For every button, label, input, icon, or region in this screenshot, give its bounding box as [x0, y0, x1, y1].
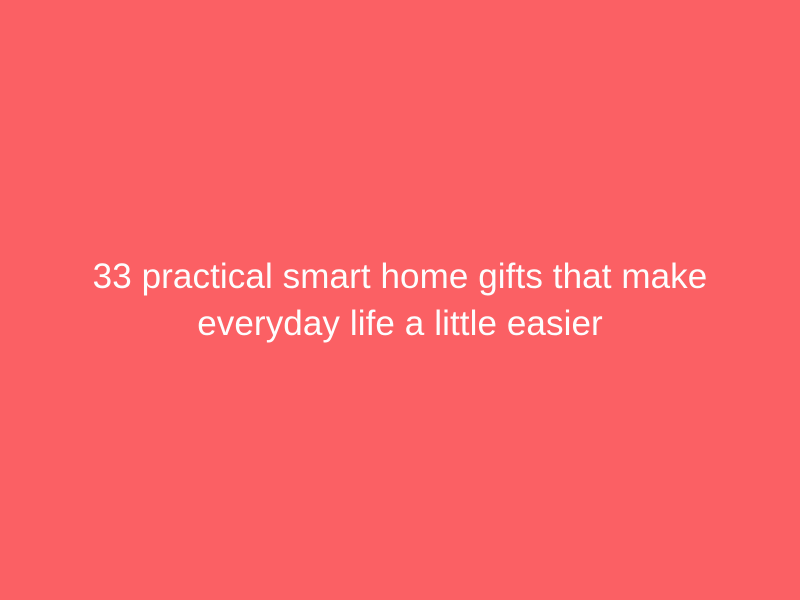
page-title: 33 practical smart home gifts that make … [66, 253, 734, 347]
hero-card: 33 practical smart home gifts that make … [0, 0, 800, 600]
